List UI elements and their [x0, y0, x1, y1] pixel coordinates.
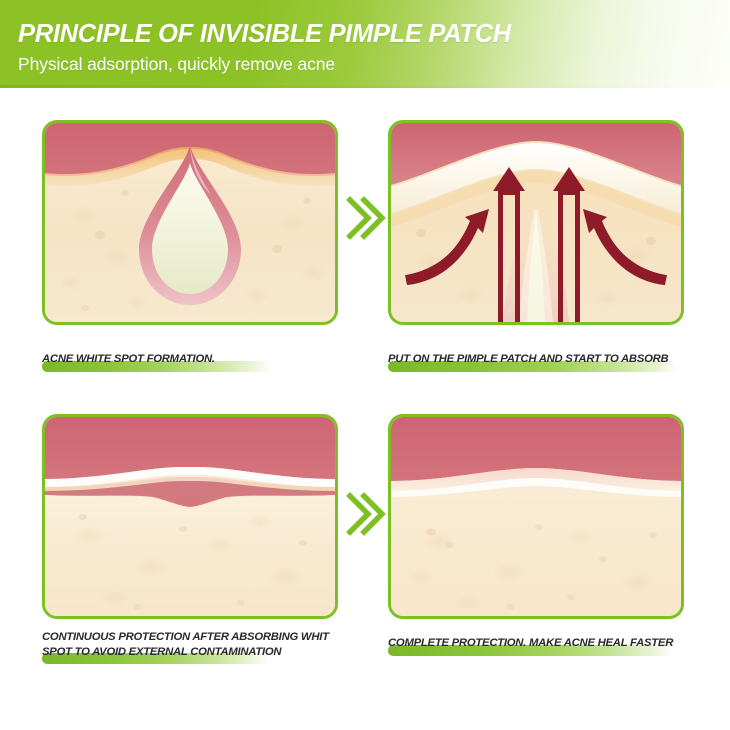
double-chevron-right-icon: [350, 200, 382, 236]
infographic-page: PRINCIPLE OF INVISIBLE PIMPLE PATCH Phys…: [0, 0, 730, 730]
continuous-protection-illustration: [45, 417, 335, 616]
caption-step-1: ACNE WHITE SPOT FORMATION.: [42, 352, 372, 367]
patch-absorbing-panel: [388, 120, 684, 325]
header-banner: PRINCIPLE OF INVISIBLE PIMPLE PATCH Phys…: [0, 0, 730, 88]
acne-white-spot-panel: [42, 120, 338, 325]
complete-protection-illustration: [391, 417, 681, 616]
caption-step-1-text: ACNE WHITE SPOT FORMATION.: [42, 352, 372, 367]
step-arrow-top: [344, 190, 386, 246]
patch-absorbing-illustration: [391, 123, 681, 322]
caption-step-2: PUT ON THE PIMPLE PATCH AND START TO ABS…: [388, 352, 718, 367]
caption-step-4: COMPLETE PROTECTION. MAKE ACNE HEAL FAST…: [388, 636, 718, 651]
caption-step-3-text: CONTINUOUS PROTECTION AFTER ABSORBING WH…: [42, 630, 372, 659]
caption-step-2-text: PUT ON THE PIMPLE PATCH AND START TO ABS…: [388, 352, 718, 367]
acne-white-spot-illustration: [45, 123, 335, 322]
continuous-protection-panel: [42, 414, 338, 619]
double-chevron-right-icon: [350, 496, 382, 532]
complete-protection-panel: [388, 414, 684, 619]
step-arrow-bottom: [344, 486, 386, 542]
caption-step-3: CONTINUOUS PROTECTION AFTER ABSORBING WH…: [42, 630, 372, 659]
page-title: PRINCIPLE OF INVISIBLE PIMPLE PATCH: [18, 22, 511, 48]
page-subtitle: Physical adsorption, quickly remove acne: [18, 56, 335, 74]
caption-step-4-text: COMPLETE PROTECTION. MAKE ACNE HEAL FAST…: [388, 636, 718, 651]
